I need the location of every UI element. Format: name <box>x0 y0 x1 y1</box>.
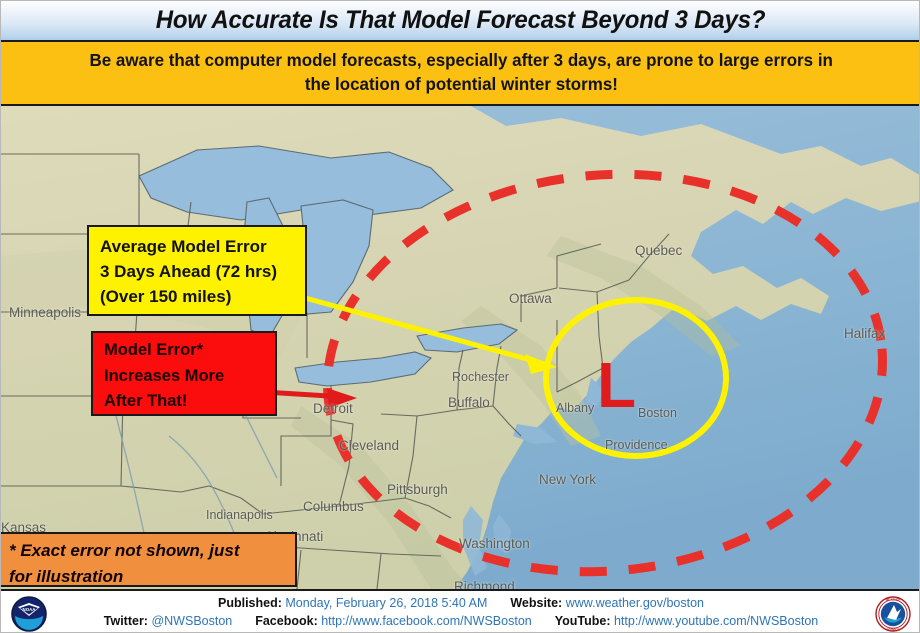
twitter-value[interactable]: @NWSBoston <box>151 614 232 628</box>
banner-line-2: the location of potential winter storms! <box>304 73 617 97</box>
model-error-increases-callout: Model Error* Increases More After That! <box>91 331 277 416</box>
youtube-label: YouTube: <box>555 614 611 628</box>
published-label: Published: <box>218 596 282 610</box>
published-value: Monday, February 26, 2018 5:40 AM <box>285 596 487 610</box>
yellow-callout-line-3: (Over 150 miles) <box>100 284 296 309</box>
svg-text:NOAA: NOAA <box>23 607 37 612</box>
average-model-error-callout: Average Model Error 3 Days Ahead (72 hrs… <box>87 225 307 316</box>
red-callout-line-3: After That! <box>104 389 267 415</box>
website-label: Website: <box>510 596 562 610</box>
footer-row-published: Published: Monday, February 26, 2018 5:4… <box>218 596 704 612</box>
red-callout-line-2: Increases More <box>104 364 267 390</box>
twitter-label: Twitter: <box>104 614 148 628</box>
footer-row-social: Twitter: @NWSBoston Facebook: http://www… <box>104 614 818 630</box>
website-value[interactable]: www.weather.gov/boston <box>566 596 704 610</box>
footer-bar: NOAA Published: Monday, February 26, 201… <box>1 589 920 633</box>
weather-infographic: How Accurate Is That Model Forecast Beyo… <box>0 0 920 633</box>
youtube-value[interactable]: http://www.youtube.com/NWSBoston <box>614 614 818 628</box>
footnote-callout: * Exact error not shown, just for illust… <box>0 532 297 587</box>
facebook-value[interactable]: http://www.facebook.com/NWSBoston <box>321 614 532 628</box>
orange-callout-line-2: for illustration <box>9 564 289 590</box>
yellow-callout-line-1: Average Model Error <box>100 234 296 259</box>
title-bar: How Accurate Is That Model Forecast Beyo… <box>1 1 920 42</box>
warning-banner: Be aware that computer model forecasts, … <box>1 42 920 106</box>
yellow-callout-line-2: 3 Days Ahead (72 hrs) <box>100 259 296 284</box>
banner-line-1: Be aware that computer model forecasts, … <box>89 49 832 73</box>
footer-text: Published: Monday, February 26, 2018 5:4… <box>59 591 863 633</box>
facebook-label: Facebook: <box>255 614 318 628</box>
red-callout-line-1: Model Error* <box>104 338 267 364</box>
national-weather-service-logo: WEATHER SERVICE <box>875 596 911 632</box>
page-title: How Accurate Is That Model Forecast Beyo… <box>156 6 766 35</box>
orange-callout-line-1: * Exact error not shown, just <box>9 538 289 564</box>
noaa-logo: NOAA <box>11 596 47 632</box>
